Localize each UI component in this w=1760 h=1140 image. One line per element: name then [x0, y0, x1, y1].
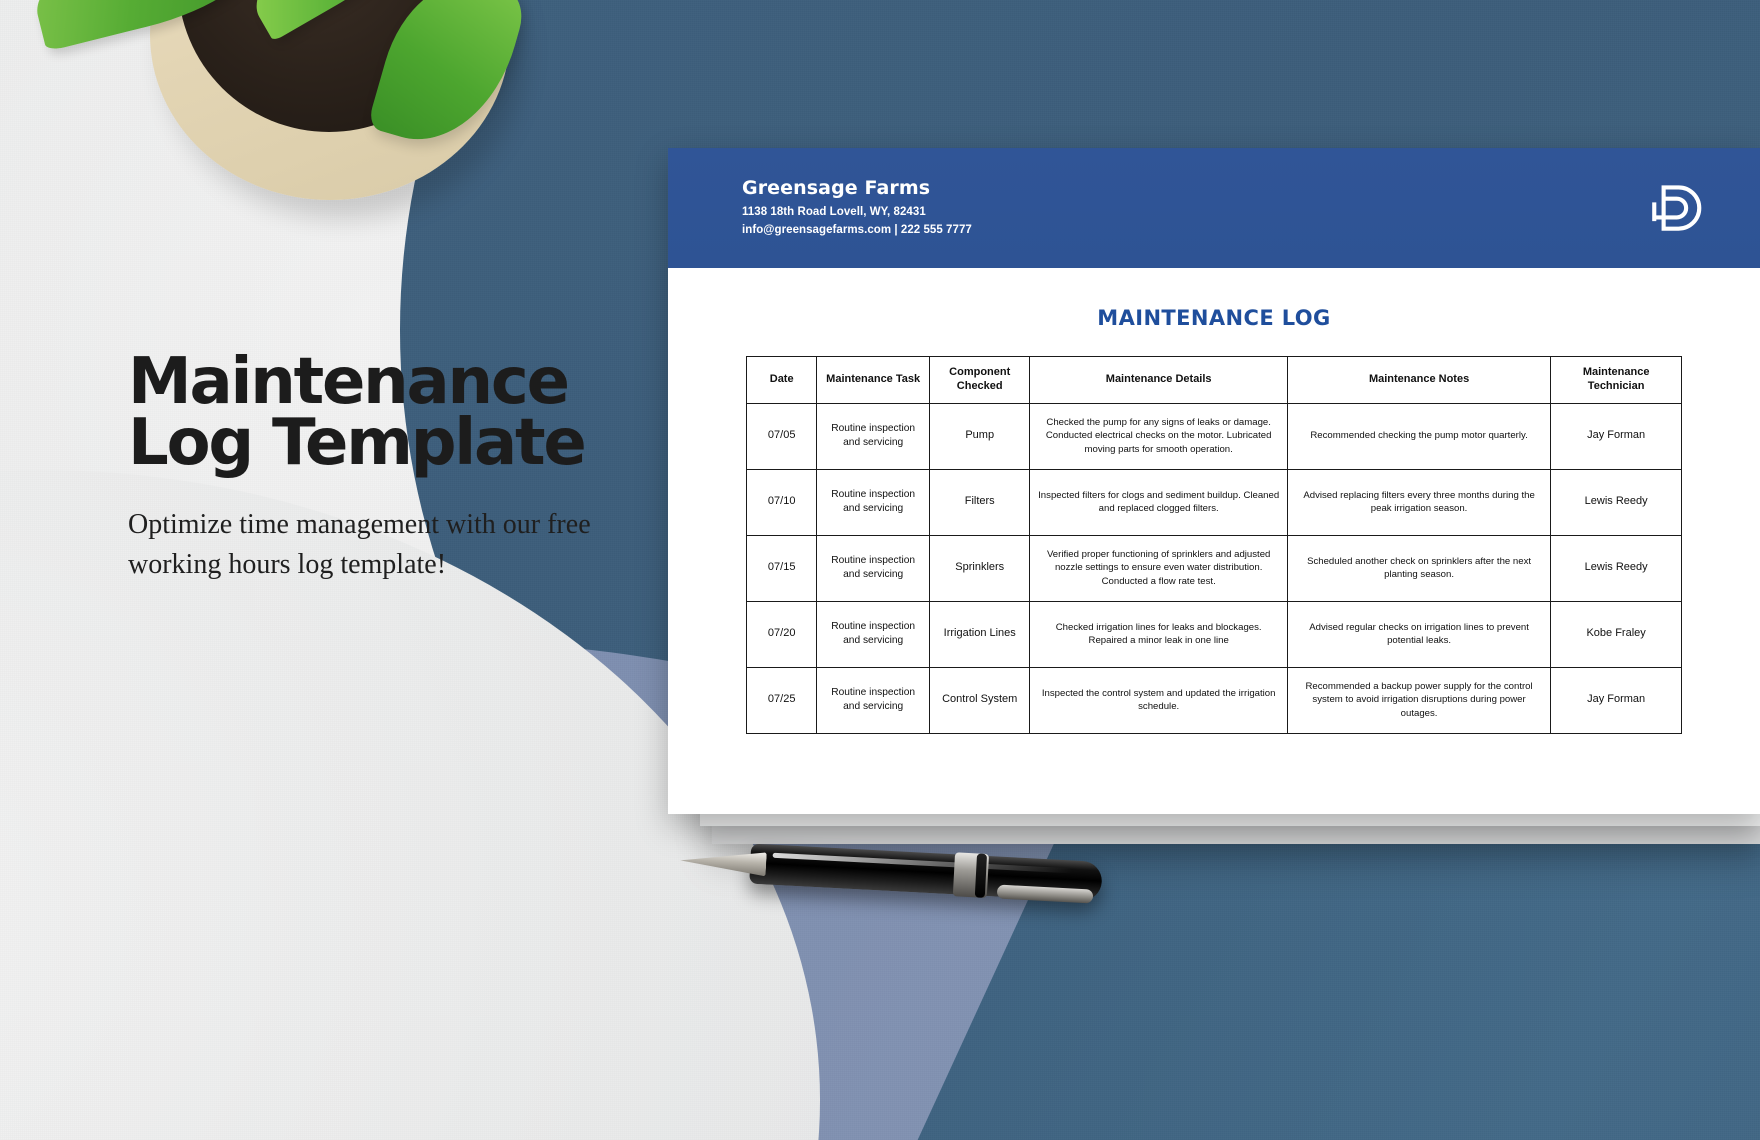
table-header-row: Date Maintenance Task Component Checked … [747, 357, 1682, 404]
column-header-date: Date [747, 357, 817, 404]
maintenance-log-table: Date Maintenance Task Component Checked … [746, 356, 1682, 734]
document-title: MAINTENANCE LOG [668, 306, 1760, 330]
cell-component: Filters [929, 469, 1030, 535]
cell-details: Inspected filters for clogs and sediment… [1030, 469, 1287, 535]
cell-date: 07/05 [747, 403, 817, 469]
cell-technician: Kobe Fraley [1551, 601, 1682, 667]
column-header-task: Maintenance Task [817, 357, 930, 404]
column-header-details: Maintenance Details [1030, 357, 1287, 404]
cell-component: Irrigation Lines [929, 601, 1030, 667]
cell-task: Routine inspection and servicing [817, 667, 930, 733]
cell-task: Routine inspection and servicing [817, 469, 930, 535]
organization-address: 1138 18th Road Lovell, WY, 82431 [742, 204, 972, 222]
cell-details: Verified proper functioning of sprinkler… [1030, 535, 1287, 601]
cell-date: 07/15 [747, 535, 817, 601]
cell-date: 07/25 [747, 667, 817, 733]
cell-date: 07/10 [747, 469, 817, 535]
cell-technician: Jay Forman [1551, 403, 1682, 469]
column-header-notes: Maintenance Notes [1287, 357, 1550, 404]
cell-component: Pump [929, 403, 1030, 469]
potted-plant [150, 0, 580, 210]
cell-notes: Recommended a backup power supply for th… [1287, 667, 1550, 733]
organization-contact: info@greensagefarms.com | 222 555 7777 [742, 222, 972, 240]
maintenance-log-document: Greensage Farms 1138 18th Road Lovell, W… [668, 148, 1760, 814]
maintenance-table-body: 07/05 Routine inspection and servicing P… [747, 403, 1682, 733]
cell-task: Routine inspection and servicing [817, 601, 930, 667]
cell-date: 07/20 [747, 601, 817, 667]
table-row: 07/10 Routine inspection and servicing F… [747, 469, 1682, 535]
cell-details: Inspected the control system and updated… [1030, 667, 1287, 733]
cell-task: Routine inspection and servicing [817, 535, 930, 601]
table-row: 07/20 Routine inspection and servicing I… [747, 601, 1682, 667]
cell-details: Checked irrigation lines for leaks and b… [1030, 601, 1287, 667]
document-header: Greensage Farms 1138 18th Road Lovell, W… [668, 148, 1760, 268]
table-row: 07/05 Routine inspection and servicing P… [747, 403, 1682, 469]
column-header-component: Component Checked [929, 357, 1030, 404]
page-title-line2: Log Template [128, 406, 585, 480]
cell-details: Checked the pump for any signs of leaks … [1030, 403, 1287, 469]
cell-notes: Recommended checking the pump motor quar… [1287, 403, 1550, 469]
cell-notes: Advised replacing filters every three mo… [1287, 469, 1550, 535]
cell-component: Control System [929, 667, 1030, 733]
d-monogram-logo-icon [1642, 178, 1704, 238]
organization-block: Greensage Farms 1138 18th Road Lovell, W… [742, 177, 972, 240]
cell-technician: Lewis Reedy [1551, 535, 1682, 601]
table-row: 07/15 Routine inspection and servicing S… [747, 535, 1682, 601]
page-subtitle: Optimize time management with our free w… [128, 505, 648, 585]
cell-notes: Advised regular checks on irrigation lin… [1287, 601, 1550, 667]
maintenance-table-wrapper: Date Maintenance Task Component Checked … [668, 356, 1760, 734]
organization-name: Greensage Farms [742, 177, 972, 199]
cell-technician: Jay Forman [1551, 667, 1682, 733]
cell-task: Routine inspection and servicing [817, 403, 930, 469]
table-row: 07/25 Routine inspection and servicing C… [747, 667, 1682, 733]
cell-notes: Scheduled another check on sprinklers af… [1287, 535, 1550, 601]
promo-copy: MaintenanceLog Template Optimize time ma… [128, 352, 648, 584]
column-header-technician: Maintenance Technician [1551, 357, 1682, 404]
cell-component: Sprinklers [929, 535, 1030, 601]
page-title: MaintenanceLog Template [128, 352, 648, 475]
cell-technician: Lewis Reedy [1551, 469, 1682, 535]
